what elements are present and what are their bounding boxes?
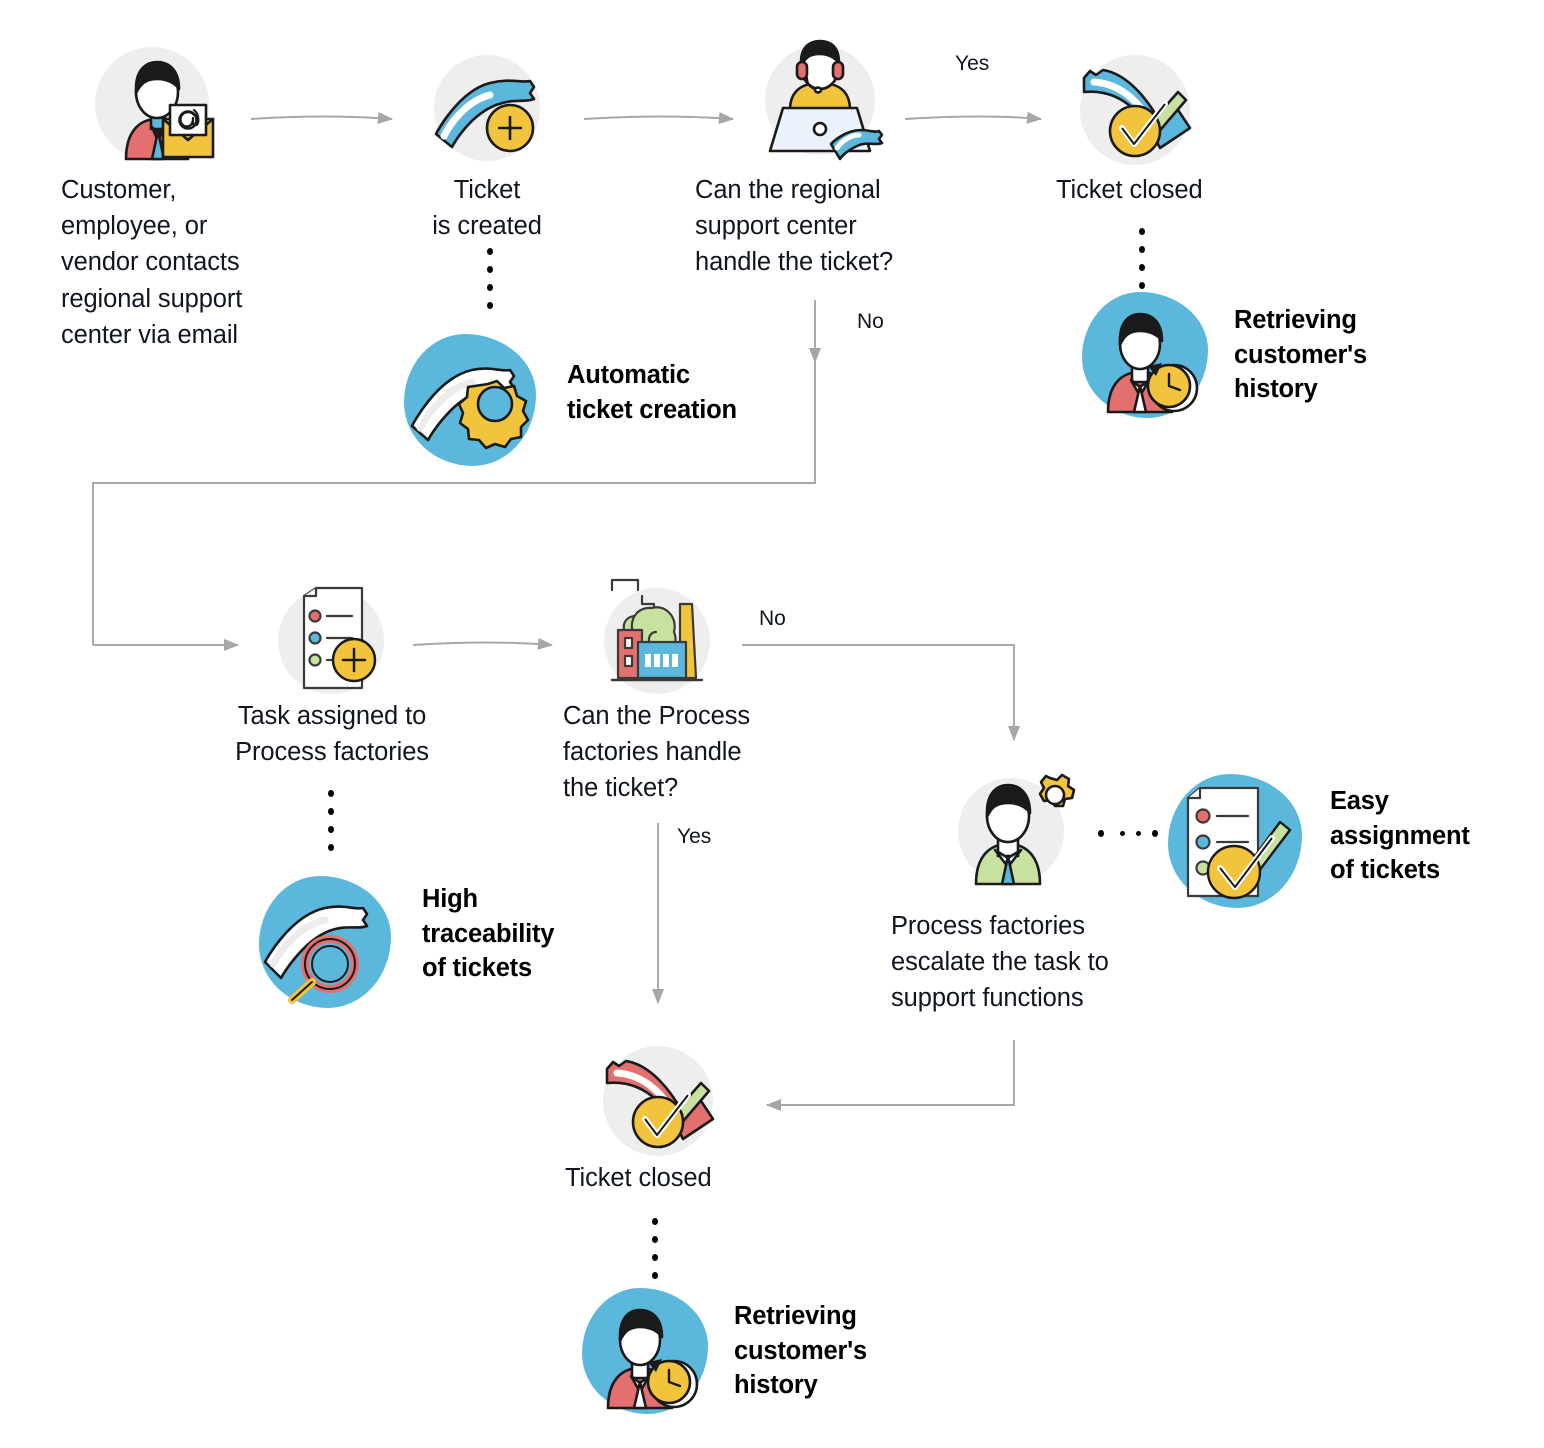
dotted-connector-escalate bbox=[1098, 830, 1168, 839]
callout-text-traceability: High traceability of tickets bbox=[422, 882, 652, 986]
ribbon-magnifier-badge-icon bbox=[259, 892, 387, 1002]
callout-text-retrieving-top: Retrieving customer's history bbox=[1234, 303, 1474, 407]
edge-label-yes-factories: Yes bbox=[677, 826, 711, 847]
node-factories-decision-label: Can the Process factories handle the tic… bbox=[563, 698, 843, 807]
person-with-gear-icon bbox=[952, 768, 1082, 890]
dotted-connector-task-assigned bbox=[328, 790, 336, 852]
ribbon-check-blue-icon bbox=[1070, 52, 1200, 168]
person-with-email-icon bbox=[95, 45, 223, 167]
callout-retrieving-history-top: Retrieving customer's history bbox=[1082, 292, 1502, 426]
flowchart-diagram: Customer, employee, or vendor contacts r… bbox=[0, 0, 1544, 1448]
edge-label-no-factories: No bbox=[759, 608, 786, 629]
callout-easy-assignment: Easy assignment of tickets bbox=[1168, 772, 1538, 908]
ribbon-gear-badge-icon bbox=[406, 350, 534, 454]
support-agent-laptop-icon bbox=[757, 38, 887, 162]
callout-text-automatic: Automatic ticket creation bbox=[567, 358, 797, 427]
callout-automatic-ticket-creation: Automatic ticket creation bbox=[404, 334, 804, 466]
dotted-connector-ticket-closed-bottom bbox=[652, 1218, 660, 1280]
callout-high-traceability: High traceability of tickets bbox=[259, 876, 659, 1008]
callout-text-retrieving-bottom: Retrieving customer's history bbox=[734, 1299, 974, 1403]
edge-task-to-factories bbox=[413, 643, 552, 646]
checklist-plus-icon bbox=[274, 584, 394, 700]
node-ticket-created-label: Ticket is created bbox=[386, 172, 588, 244]
node-ticket-closed-top-label: Ticket closed bbox=[1056, 172, 1316, 208]
dotted-connector-ticket-created bbox=[487, 248, 495, 310]
node-regional-decision-label: Can the regional support center handle t… bbox=[695, 172, 995, 281]
edge-label-yes-regional: Yes bbox=[955, 53, 989, 74]
callout-text-easy-assignment: Easy assignment of tickets bbox=[1330, 784, 1544, 888]
node-task-assigned-label: Task assigned to Process factories bbox=[186, 698, 478, 770]
callout-retrieving-history-bottom: Retrieving customer's history bbox=[582, 1288, 1002, 1422]
ribbon-check-red-icon bbox=[593, 1043, 723, 1159]
edge-contact-to-ticket bbox=[251, 117, 392, 120]
node-ticket-closed-bottom-label: Ticket closed bbox=[565, 1160, 825, 1196]
edge-escalate-to-closed bbox=[767, 1040, 1014, 1105]
ribbon-plus-icon bbox=[428, 55, 548, 165]
edge-ticket-to-regional bbox=[584, 117, 733, 120]
person-clock-badge-icon bbox=[590, 1296, 710, 1414]
dotted-connector-ticket-closed-top bbox=[1139, 228, 1147, 290]
node-contact-label: Customer, employee, or vendor contacts r… bbox=[61, 172, 361, 353]
checklist-check-badge-icon bbox=[1182, 784, 1306, 904]
edge-label-no-regional: No bbox=[857, 311, 884, 332]
person-clock-badge-icon bbox=[1090, 300, 1210, 418]
factory-icon bbox=[598, 570, 720, 696]
node-escalate-label: Process factories escalate the task to s… bbox=[891, 908, 1191, 1017]
edge-regional-yes-to-closed bbox=[905, 117, 1041, 120]
